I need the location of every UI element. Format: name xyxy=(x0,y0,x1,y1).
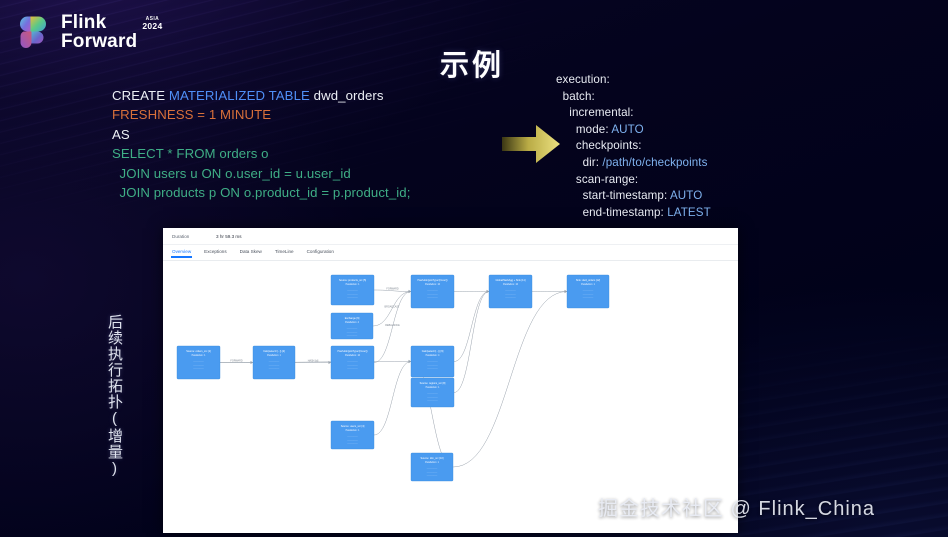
dag-node-subtitle: Parallelism: 1 xyxy=(192,354,207,357)
dag-node-subtitle: Parallelism: 1 xyxy=(267,354,282,357)
dag-node-metric: ————— xyxy=(347,335,358,337)
dag-node-subtitle: Parallelism: 1 xyxy=(426,386,441,389)
dag-node[interactable]: HashJoin(joinType=[Inner])Parallelism: 1… xyxy=(331,346,374,379)
dag-node[interactable]: Source: products_src [5]Parallelism: 1——… xyxy=(331,275,374,305)
dag-node-metric: ————— xyxy=(427,364,438,366)
yaml-line: scan-range: xyxy=(556,172,711,189)
dag-node-metric: ————— xyxy=(193,368,204,370)
dag-node-metric: ————— xyxy=(427,393,438,395)
yaml-key: dir: xyxy=(556,156,599,169)
flink-ui-panel: Duration 3 hr 59.3 ms OverviewExceptions… xyxy=(163,228,738,533)
sql-code-block: CREATE MATERIALIZED TABLE dwd_ordersFRES… xyxy=(112,86,410,202)
yaml-value: AUTO xyxy=(667,189,702,202)
yaml-key: mode: xyxy=(556,123,609,136)
logo-year: 2024 xyxy=(142,22,162,31)
dag-node-metric: ————— xyxy=(347,443,358,445)
dag-edge-label: BROADCAST xyxy=(385,306,400,309)
dag-edge xyxy=(374,362,411,436)
sql-line: FRESHNESS = 1 MINUTE xyxy=(112,105,410,124)
dag-node-title: Source: orders_src [1] xyxy=(186,350,211,353)
dag-node-metric: ————— xyxy=(427,468,438,470)
tab-overview[interactable]: Overview xyxy=(172,249,191,257)
dag-node-metric: ————— xyxy=(427,396,438,398)
dag-node-metric: ————— xyxy=(427,471,438,473)
sql-line: AS xyxy=(112,125,410,144)
dag-node-title: Calc(select=[...]) [2] xyxy=(263,350,285,353)
dag-node[interactable]: Calc(select=[...]) [2]Parallelism: 1————… xyxy=(253,346,295,379)
dag-edge xyxy=(411,362,453,468)
dag-node-title: Source: regions_src [8] xyxy=(420,382,446,385)
dag-node-title: Calc(select=[...]) [9] xyxy=(422,350,444,353)
dag-node-metric: ————— xyxy=(347,328,358,330)
dag-node-metric: ————— xyxy=(347,439,358,441)
dag-node-metric: ————— xyxy=(347,290,358,292)
yaml-line: batch: xyxy=(556,89,711,106)
yaml-line: dir: /path/to/checkpoints xyxy=(556,155,711,172)
dag-node[interactable]: GlobalHashAgg + Sink [11]Parallelism: 10… xyxy=(489,275,532,308)
dag-node-subtitle: Parallelism: 1 xyxy=(425,461,440,464)
flink-forward-logo: Flink Forward ASIA 2024 xyxy=(18,14,162,51)
dag-node-metric: ————— xyxy=(427,297,438,299)
dag-node-title: GlobalHashAgg + Sink [11] xyxy=(496,279,526,282)
dag-node-metric: ————— xyxy=(505,293,516,295)
dag-node-metric: ————— xyxy=(193,361,204,363)
dag-node-metric: ————— xyxy=(583,290,594,292)
tab-exceptions[interactable]: Exceptions xyxy=(204,249,226,257)
dag-node-metric: ————— xyxy=(427,400,438,402)
dag-edge-arrow xyxy=(565,290,568,293)
yaml-key: batch: xyxy=(556,90,595,103)
dag-node-metric: ————— xyxy=(347,297,358,299)
dag-node-metric: ————— xyxy=(427,290,438,292)
dag-node-subtitle: Parallelism: 1 xyxy=(346,429,361,432)
dag-edge xyxy=(453,292,567,468)
dag-edge xyxy=(373,292,411,327)
dag-node-subtitle: Parallelism: 1 xyxy=(581,283,596,286)
dag-edge-arrow xyxy=(487,290,490,293)
sql-token: SELECT * FROM orders o xyxy=(112,146,269,161)
dag-node[interactable]: Sink: dwd_orders [12]Parallelism: 1—————… xyxy=(567,275,609,308)
sql-token: FRESHNESS = 1 MINUTE xyxy=(112,107,271,122)
vertical-caption: 后续执行拓扑(增量) xyxy=(100,314,124,478)
dag-node[interactable]: Exchange [6]Parallelism: 4——————————————… xyxy=(331,313,373,339)
dag-node-subtitle: Parallelism: 10 xyxy=(503,283,519,286)
sql-token: JOIN products p ON o.product_id = p.prod… xyxy=(112,185,410,200)
yaml-line: start-timestamp: AUTO xyxy=(556,188,711,205)
yaml-value: LATEST xyxy=(664,206,711,219)
sql-line: SELECT * FROM orders o xyxy=(112,144,410,163)
sql-token: dwd_orders xyxy=(310,88,384,103)
logo-region: ASIA xyxy=(142,16,162,22)
dag-node-metric: ————— xyxy=(583,293,594,295)
yaml-key: checkpoints: xyxy=(556,139,642,152)
sql-token: CREATE xyxy=(112,88,169,103)
logo-line-2: Forward xyxy=(61,33,137,51)
sql-token: JOIN users u ON o.user_id = u.user_id xyxy=(112,166,351,181)
dag-node-title: Sink: dwd_orders [12] xyxy=(576,279,600,282)
yaml-key: scan-range: xyxy=(556,173,638,186)
dag-edge xyxy=(454,292,489,362)
yaml-key: end-timestamp: xyxy=(556,206,664,219)
sql-token: MATERIALIZED TABLE xyxy=(169,88,310,103)
yaml-value: /path/to/checkpoints xyxy=(599,156,707,169)
dag-node-subtitle: Parallelism: 1 xyxy=(346,283,361,286)
yaml-key: execution: xyxy=(556,73,610,86)
dag-node-metric: ————— xyxy=(505,290,516,292)
slide-root: Flink Forward ASIA 2024 示例 CREATE MATERI… xyxy=(0,0,948,537)
dag-node-title: Exchange [6] xyxy=(345,317,360,320)
dag-node-metric: ————— xyxy=(269,364,280,366)
panel-duration-row: Duration 3 hr 59.3 ms xyxy=(163,228,738,245)
yaml-line: checkpoints: xyxy=(556,138,711,155)
dag-node[interactable]: HashJoin(joinType=[Inner])Parallelism: 1… xyxy=(411,275,454,308)
yaml-config-block: execution: batch: incremental: mode: AUT… xyxy=(556,72,711,221)
yaml-line: end-timestamp: LATEST xyxy=(556,205,711,222)
dag-node-metric: ————— xyxy=(427,475,438,477)
yaml-key: start-timestamp: xyxy=(556,189,667,202)
sql-line: CREATE MATERIALIZED TABLE dwd_orders xyxy=(112,86,410,105)
logo-wordmark: Flink Forward xyxy=(61,14,137,51)
dag-node-title: HashJoin(joinType=[Inner]) xyxy=(338,350,368,353)
logo-line-1: Flink xyxy=(61,12,106,33)
dag-node-metric: ————— xyxy=(347,364,358,366)
yaml-key: incremental: xyxy=(556,106,634,119)
logo-edition-badge: ASIA 2024 xyxy=(142,16,162,31)
dag-node-subtitle: Parallelism: 10 xyxy=(425,283,441,286)
dag-node-metric: ————— xyxy=(347,293,358,295)
dag-node-metric: ————— xyxy=(583,297,594,299)
dag-edge-label: REBALANCE xyxy=(385,324,400,327)
tab-configuration[interactable]: Configuration xyxy=(307,249,334,257)
right-arrow-icon xyxy=(500,122,562,166)
panel-tabs: OverviewExceptionsData SkewTimeLineConfi… xyxy=(163,245,738,261)
dag-node-subtitle: Parallelism: 10 xyxy=(345,354,361,357)
duration-label: Duration xyxy=(172,234,216,239)
dag-edge-arrow xyxy=(409,360,412,363)
dag-edge-label: FORWARD xyxy=(230,359,242,362)
watermark: 掘金技术社区 @ Flink_China xyxy=(598,492,875,521)
flink-squirrel-logo-icon xyxy=(18,15,52,51)
dag-node-metric: ————— xyxy=(193,364,204,366)
dag-node-subtitle: Parallelism: 4 xyxy=(426,354,441,357)
dag-node-title: Source: users_src [4] xyxy=(341,425,365,428)
dag-node-metric: ————— xyxy=(347,368,358,370)
tab-data-skew[interactable]: Data Skew xyxy=(240,249,262,257)
dag-edge-label: FORWARD xyxy=(386,288,398,291)
sql-line: JOIN users u ON o.user_id = u.user_id xyxy=(112,164,410,183)
yaml-line: execution: xyxy=(556,72,711,89)
duration-value: 3 hr 59.3 ms xyxy=(216,234,242,239)
dag-node-subtitle: Parallelism: 4 xyxy=(345,321,360,324)
dag-node-title: Source: dim_src [10] xyxy=(421,457,444,460)
dag-node[interactable]: Source: regions_src [8]Parallelism: 1———… xyxy=(411,378,454,407)
sql-line: JOIN products p ON o.product_id = p.prod… xyxy=(112,183,410,202)
dag-node-metric: ————— xyxy=(347,436,358,438)
tab-timeline[interactable]: TimeLine xyxy=(275,249,294,257)
dag-node[interactable]: Source: orders_src [1]Parallelism: 1————… xyxy=(177,346,220,379)
dag-node-metric: ————— xyxy=(269,368,280,370)
dag-node-metric: ————— xyxy=(427,361,438,363)
dag-node-metric: ————— xyxy=(505,297,516,299)
page-title: 示例 xyxy=(440,42,504,84)
dag-node-title: HashJoin(joinType=[Inner]) xyxy=(418,279,448,282)
dag-edge-arrow xyxy=(409,290,412,293)
dag-node-metric: ————— xyxy=(347,331,358,333)
yaml-line: mode: AUTO xyxy=(556,122,711,139)
dag-node[interactable]: Calc(select=[...]) [9]Parallelism: 4————… xyxy=(411,346,454,377)
sql-token: AS xyxy=(112,127,130,142)
dag-node-metric: ————— xyxy=(427,293,438,295)
dag-edge xyxy=(374,292,411,363)
dag-node[interactable]: Source: dim_src [10]Parallelism: 1——————… xyxy=(411,453,453,481)
yaml-line: incremental: xyxy=(556,105,711,122)
dag-node-metric: ————— xyxy=(269,361,280,363)
dag-edge xyxy=(454,292,489,393)
dag-node-metric: ————— xyxy=(347,361,358,363)
dag-node-metric: ————— xyxy=(427,368,438,370)
dag-node[interactable]: Source: users_src [4]Parallelism: 1—————… xyxy=(331,421,374,449)
dag-node-title: Source: products_src [5] xyxy=(339,279,366,282)
yaml-value: AUTO xyxy=(609,123,644,136)
dag-edge-arrow xyxy=(329,361,332,364)
